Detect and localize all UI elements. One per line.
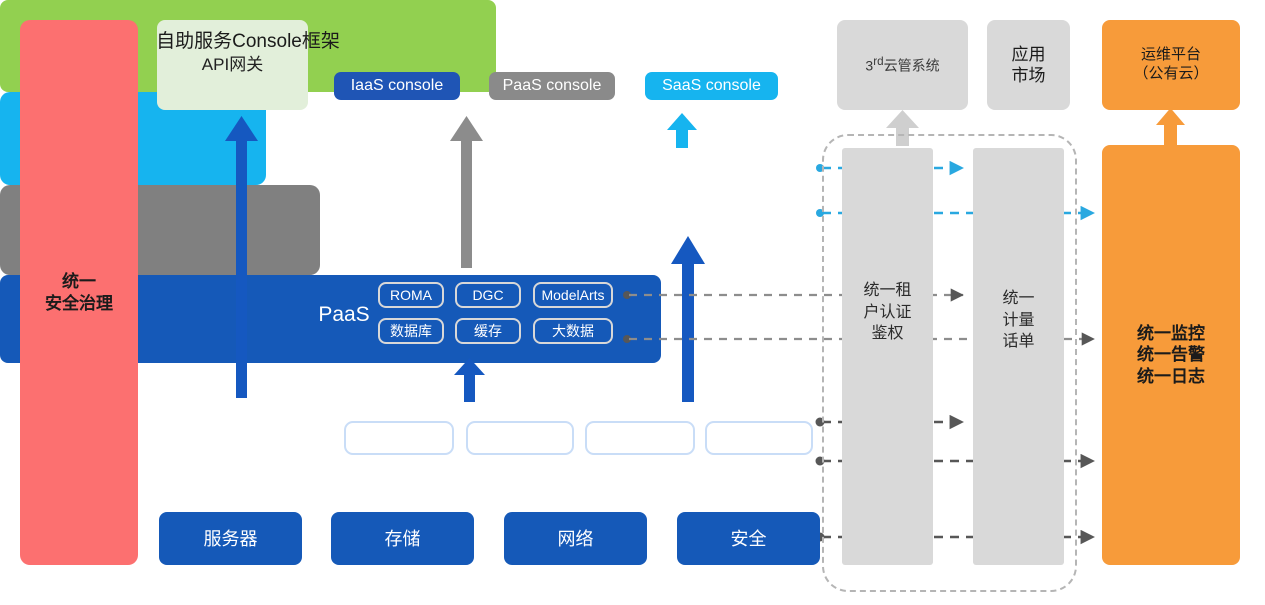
arrow-infra-to-paas: [454, 358, 485, 402]
metering-line-2: 计量: [973, 310, 1064, 332]
paas-chip-database[interactable]: 数据库: [378, 318, 444, 344]
ops-panel-line-3: 统一日志: [1137, 366, 1205, 387]
unified-tenant-auth-column[interactable]: [842, 148, 933, 565]
hardware-box-security[interactable]: 安全: [677, 512, 820, 565]
infra-bar-label: 统一基础设施服务: [170, 429, 335, 454]
saas-block-label: SaaS: [562, 180, 640, 203]
paas-block-label: PaaS: [312, 303, 376, 327]
saas-chip-iot[interactable]: IoT: [727, 158, 795, 186]
infra-chip-compute[interactable]: Compute: [344, 421, 454, 455]
ops-panel-line-1: 统一监控: [1137, 323, 1205, 344]
unified-metering-column[interactable]: [973, 148, 1064, 565]
app-market-line-2: 市场: [1012, 65, 1046, 86]
ops-panel-line-2: 统一告警: [1137, 344, 1205, 365]
hardware-box-storage[interactable]: 存储: [331, 512, 474, 565]
paas-chip-modelarts[interactable]: ModelArts: [533, 282, 613, 308]
paas-chip-dgc[interactable]: DGC: [455, 282, 521, 308]
app-market-box[interactable]: 应用 市场: [987, 20, 1070, 110]
infra-chip-network[interactable]: Network: [585, 421, 695, 455]
iaas-console-chip[interactable]: IaaS console: [334, 72, 460, 100]
paas-chip-bigdata[interactable]: 大数据: [533, 318, 613, 344]
auth-line-2: 户认证: [842, 302, 933, 324]
metering-line-3: 话单: [973, 331, 1064, 353]
unified-security-governance-panel[interactable]: 统一 安全治理: [20, 20, 138, 565]
paas-chip-roma[interactable]: ROMA: [378, 282, 444, 308]
paas-console-chip[interactable]: PaaS console: [489, 72, 615, 100]
hardware-box-network[interactable]: 网络: [504, 512, 647, 565]
saas-chip-desktop-cloud[interactable]: 桌面云: [727, 196, 795, 224]
hardware-box-server[interactable]: 服务器: [159, 512, 302, 565]
arrow-saas-to-console: [667, 113, 697, 148]
arrow-infra-to-saas: [671, 236, 705, 402]
paas-chip-cache[interactable]: 缓存: [455, 318, 521, 344]
ops-platform-line-2: （公有云）: [1133, 65, 1208, 84]
third-party-cloud-management-box[interactable]: 3rd云管系统: [837, 20, 968, 110]
third-cloud-rest: 云管系统: [884, 58, 940, 74]
security-line-2: 安全治理: [45, 293, 113, 314]
security-line-1: 统一: [45, 271, 113, 292]
saas-chip-blockchain[interactable]: 区块链: [643, 158, 717, 186]
third-cloud-label: 3rd云管系统: [865, 55, 939, 75]
unified-ops-panel[interactable]: 统一监控 统一告警 统一日志: [1102, 145, 1240, 565]
infra-chip-cce[interactable]: CCE: [705, 421, 813, 455]
unified-tenant-auth-label: 统一租 户认证 鉴权: [842, 280, 933, 345]
api-gateway-label: API网关: [202, 54, 263, 75]
saas-console-chip[interactable]: SaaS console: [645, 72, 778, 100]
saas-chip-video-cloud[interactable]: 视频云: [643, 196, 717, 224]
ops-platform-public-cloud-box[interactable]: 运维平台 （公有云）: [1102, 20, 1240, 110]
arrow-paas-to-console: [450, 116, 483, 268]
unified-metering-label: 统一 计量 话单: [973, 288, 1064, 353]
console-frame-title: 自助服务Console框架: [0, 26, 496, 53]
app-market-line-1: 应用: [1012, 44, 1046, 65]
infra-chip-storage[interactable]: Storage: [466, 421, 574, 455]
third-cloud-sup: rd: [873, 55, 883, 68]
metering-line-1: 统一: [973, 288, 1064, 310]
auth-line-1: 统一租: [842, 280, 933, 302]
architecture-diagram: 统一 安全治理 API网关 自助服务Console框架 IaaS console…: [0, 0, 1265, 605]
arrow-opspanel-to-opsplatform: [1156, 108, 1185, 146]
auth-line-3: 鉴权: [842, 323, 933, 345]
ops-platform-line-1: 运维平台: [1133, 46, 1208, 65]
